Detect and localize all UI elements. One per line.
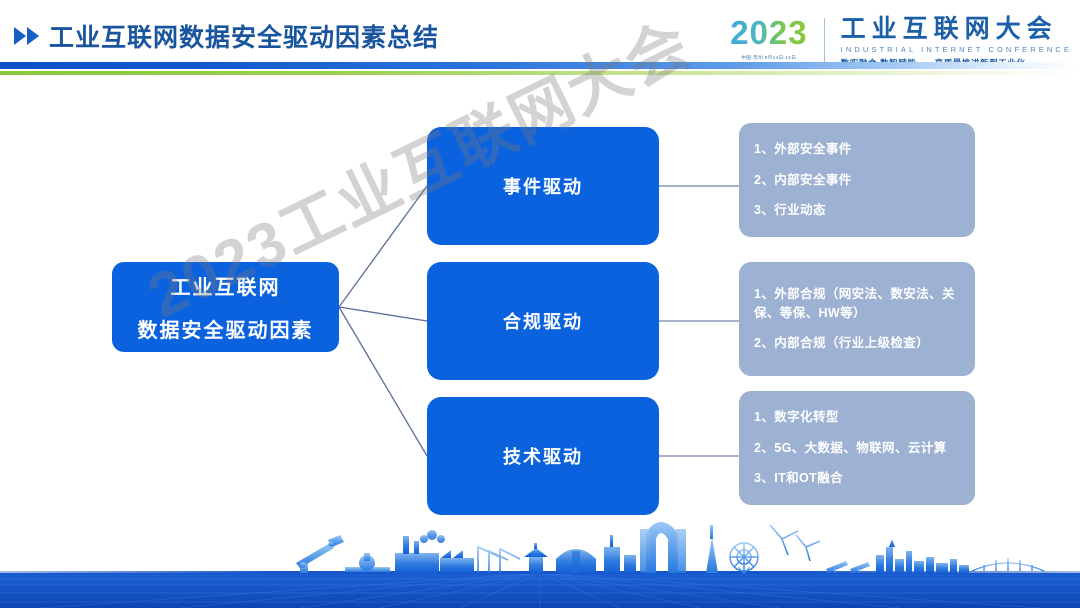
detail-item: 2、内部合规（行业上级检查） xyxy=(754,334,960,353)
logo-name-cn: 工业互联网大会 xyxy=(841,16,1072,42)
root-node[interactable]: 工业互联网 数据安全驱动因素 xyxy=(112,262,339,352)
logo-meta: 中国·苏州 9月14日-15日 xyxy=(732,54,806,61)
slide: 工业互联网数据安全驱动因素总结 2023 中国·苏州 9月14日-15日 工业互… xyxy=(0,0,1080,608)
detail-item: 2、5G、大数据、物联网、云计算 xyxy=(754,439,960,458)
slide-header: 工业互联网数据安全驱动因素总结 2023 中国·苏州 9月14日-15日 工业互… xyxy=(0,0,1080,80)
branch-node-label: 技术驱动 xyxy=(503,443,583,469)
detail-item: 2、内部安全事件 xyxy=(754,171,960,190)
detail-item: 1、数字化转型 xyxy=(754,408,960,427)
title-row: 工业互联网数据安全驱动因素总结 xyxy=(14,18,439,54)
divider-blue-bar xyxy=(0,62,1080,69)
detail-item: 3、行业动态 xyxy=(754,201,960,220)
footer-skyline-graphic xyxy=(0,513,1080,608)
detail-item: 1、外部合规（网安法、数安法、关保、等保、HW等） xyxy=(754,285,960,323)
detail-panel-technology-driven[interactable]: 1、数字化转型 2、5G、大数据、物联网、云计算 3、IT和OT融合 xyxy=(739,391,975,505)
logo-year: 2023 xyxy=(730,16,807,49)
root-node-line-1: 工业互联网 xyxy=(171,271,281,300)
detail-item: 3、IT和OT融合 xyxy=(754,469,960,488)
branch-node-event-driven[interactable]: 事件驱动 xyxy=(427,127,659,245)
flow-diagram: 工业互联网 数据安全驱动因素 事件驱动 合规驱动 技术驱动 1、外部安全事件 2… xyxy=(0,80,1080,520)
page-title: 工业互联网数据安全驱动因素总结 xyxy=(49,18,439,54)
logo-year-block: 2023 中国·苏州 9月14日-15日 xyxy=(730,16,815,61)
detail-item: 1、外部安全事件 xyxy=(754,140,960,159)
header-divider xyxy=(0,62,1080,76)
branch-node-technology-driven[interactable]: 技术驱动 xyxy=(427,397,659,515)
double-triangle-icon xyxy=(14,27,39,45)
branch-node-label: 合规驱动 xyxy=(503,308,583,334)
logo-divider xyxy=(824,18,825,67)
branch-node-label: 事件驱动 xyxy=(503,173,583,199)
detail-panel-compliance-driven[interactable]: 1、外部合规（网安法、数安法、关保、等保、HW等） 2、内部合规（行业上级检查） xyxy=(739,262,975,376)
divider-green-bar xyxy=(0,71,1080,75)
logo-name-en: INDUSTRIAL INTERNET CONFERENCE xyxy=(841,45,1072,54)
branch-node-compliance-driven[interactable]: 合规驱动 xyxy=(427,262,659,380)
detail-panel-event-driven[interactable]: 1、外部安全事件 2、内部安全事件 3、行业动态 xyxy=(739,123,975,237)
robot-arm-icon xyxy=(296,535,344,573)
root-node-line-2: 数据安全驱动因素 xyxy=(138,314,314,343)
